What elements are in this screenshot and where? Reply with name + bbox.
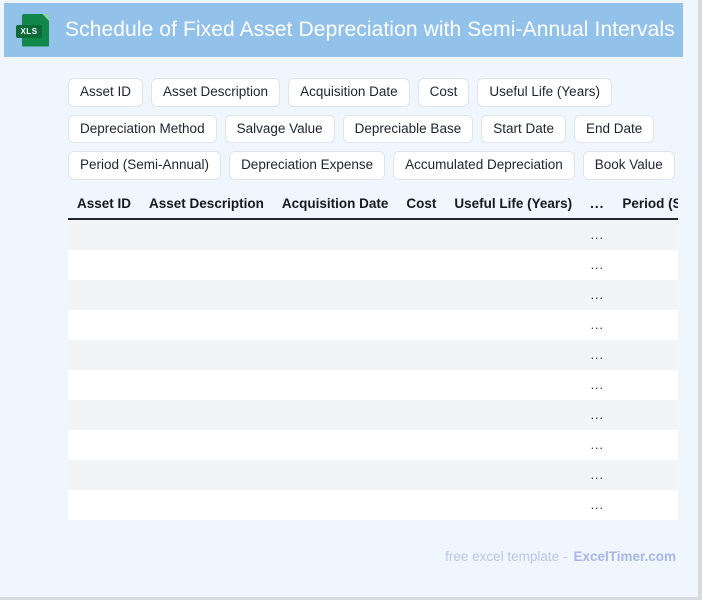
table-row[interactable]: ... [68, 310, 678, 340]
table-cell [397, 400, 445, 430]
table-cell-ellipsis: ... [581, 250, 613, 280]
table-cell [397, 460, 445, 490]
table-cell-ellipsis: ... [581, 219, 613, 250]
table-cell [273, 370, 398, 400]
table-cell [140, 219, 273, 250]
table-cell [140, 370, 273, 400]
table-cell [445, 460, 581, 490]
table-cell-ellipsis: ... [581, 490, 613, 520]
table-cell [68, 250, 140, 280]
table-cell [68, 490, 140, 520]
column-header-cost[interactable]: Cost [397, 192, 445, 219]
table-cell [397, 219, 445, 250]
table-cell [613, 310, 678, 340]
field-tag-row-3: Period (Semi-Annual) Depreciation Expens… [68, 151, 702, 180]
field-tag-accumulated-depreciation[interactable]: Accumulated Depreciation [393, 151, 575, 180]
preview-table: Asset ID Asset Description Acquisition D… [68, 192, 678, 520]
field-tag-start-date[interactable]: Start Date [481, 115, 566, 144]
table-cell [140, 280, 273, 310]
column-header-acquisition-date[interactable]: Acquisition Date [273, 192, 398, 219]
page-title: Schedule of Fixed Asset Depreciation wit… [65, 18, 675, 42]
field-tag-depreciation-method[interactable]: Depreciation Method [68, 115, 217, 144]
table-cell [397, 250, 445, 280]
table-cell [68, 430, 140, 460]
xls-file-icon: XLS [22, 14, 49, 47]
table-cell [68, 370, 140, 400]
table-cell [273, 430, 398, 460]
field-tag-cost[interactable]: Cost [418, 78, 470, 107]
page-header-bar: XLS Schedule of Fixed Asset Depreciation… [4, 3, 683, 57]
table-row[interactable]: ... [68, 219, 678, 250]
table-row[interactable]: ... [68, 370, 678, 400]
table-row[interactable]: ... [68, 280, 678, 310]
table-cell [613, 340, 678, 370]
table-cell [445, 400, 581, 430]
column-header-asset-description[interactable]: Asset Description [140, 192, 273, 219]
table-row[interactable]: ... [68, 430, 678, 460]
table-cell [445, 310, 581, 340]
footer-brand-link[interactable]: ExcelTimer.com [573, 549, 676, 564]
table-cell [397, 310, 445, 340]
table-cell-ellipsis: ... [581, 400, 613, 430]
preview-table-head: Asset ID Asset Description Acquisition D… [68, 192, 678, 219]
table-cell [613, 490, 678, 520]
table-cell [397, 280, 445, 310]
column-header-asset-id[interactable]: Asset ID [68, 192, 140, 219]
table-cell [140, 340, 273, 370]
table-cell-ellipsis: ... [581, 340, 613, 370]
field-tag-asset-description[interactable]: Asset Description [151, 78, 280, 107]
footer-text: free excel template - [445, 549, 567, 564]
footer-attribution: free excel template -ExcelTimer.com [445, 549, 676, 564]
table-cell [273, 490, 398, 520]
table-cell [140, 310, 273, 340]
table-cell [68, 400, 140, 430]
table-cell [397, 490, 445, 520]
table-cell [397, 340, 445, 370]
table-cell [273, 310, 398, 340]
table-cell [613, 280, 678, 310]
table-cell [397, 370, 445, 400]
table-cell [273, 400, 398, 430]
template-preview-page: XLS Schedule of Fixed Asset Depreciation… [0, 0, 702, 600]
table-row[interactable]: ... [68, 490, 678, 520]
table-row[interactable]: ... [68, 250, 678, 280]
table-cell [140, 460, 273, 490]
table-cell [273, 340, 398, 370]
table-cell [445, 340, 581, 370]
table-cell [445, 430, 581, 460]
table-cell-ellipsis: ... [581, 430, 613, 460]
table-row[interactable]: ... [68, 340, 678, 370]
table-cell [273, 219, 398, 250]
column-header-useful-life[interactable]: Useful Life (Years) [445, 192, 581, 219]
field-tag-depreciable-base[interactable]: Depreciable Base [343, 115, 474, 144]
table-cell [68, 280, 140, 310]
preview-table-body: .............................. [68, 219, 678, 520]
field-tag-book-value[interactable]: Book Value [583, 151, 675, 180]
table-cell-ellipsis: ... [581, 310, 613, 340]
table-cell-ellipsis: ... [581, 280, 613, 310]
table-cell [397, 430, 445, 460]
table-cell [613, 219, 678, 250]
table-cell [445, 370, 581, 400]
table-row[interactable]: ... [68, 400, 678, 430]
field-tag-period-semi-annual[interactable]: Period (Semi-Annual) [68, 151, 221, 180]
table-cell [273, 460, 398, 490]
table-cell [68, 219, 140, 250]
table-cell [445, 250, 581, 280]
table-cell [273, 250, 398, 280]
field-tag-depreciation-expense[interactable]: Depreciation Expense [229, 151, 385, 180]
column-header-ellipsis: ... [581, 192, 613, 219]
table-cell [613, 460, 678, 490]
field-tag-useful-life[interactable]: Useful Life (Years) [477, 78, 612, 107]
table-cell [140, 400, 273, 430]
field-tag-end-date[interactable]: End Date [574, 115, 654, 144]
table-cell [68, 340, 140, 370]
table-cell [140, 490, 273, 520]
field-tag-row-1: Asset ID Asset Description Acquisition D… [68, 78, 702, 107]
preview-table-container: Asset ID Asset Description Acquisition D… [68, 192, 678, 520]
table-cell [140, 250, 273, 280]
table-cell [613, 250, 678, 280]
table-cell-ellipsis: ... [581, 460, 613, 490]
field-tag-asset-id[interactable]: Asset ID [68, 78, 143, 107]
table-cell [613, 370, 678, 400]
field-tag-row-2: Depreciation Method Salvage Value Deprec… [68, 115, 702, 144]
xls-badge-label: XLS [16, 25, 42, 38]
table-cell [445, 490, 581, 520]
preview-table-header-row: Asset ID Asset Description Acquisition D… [68, 192, 678, 219]
table-cell-ellipsis: ... [581, 370, 613, 400]
table-row[interactable]: ... [68, 460, 678, 490]
table-cell [273, 280, 398, 310]
table-cell [445, 219, 581, 250]
field-tag-list: Asset ID Asset Description Acquisition D… [68, 78, 702, 188]
field-tag-salvage-value[interactable]: Salvage Value [225, 115, 335, 144]
table-cell [613, 400, 678, 430]
field-tag-acquisition-date[interactable]: Acquisition Date [288, 78, 410, 107]
column-header-period-semi-annual[interactable]: Period (Semi-Annual) [613, 192, 678, 219]
table-cell [68, 310, 140, 340]
table-cell [613, 430, 678, 460]
table-cell [68, 460, 140, 490]
table-cell [140, 430, 273, 460]
table-cell [445, 280, 581, 310]
